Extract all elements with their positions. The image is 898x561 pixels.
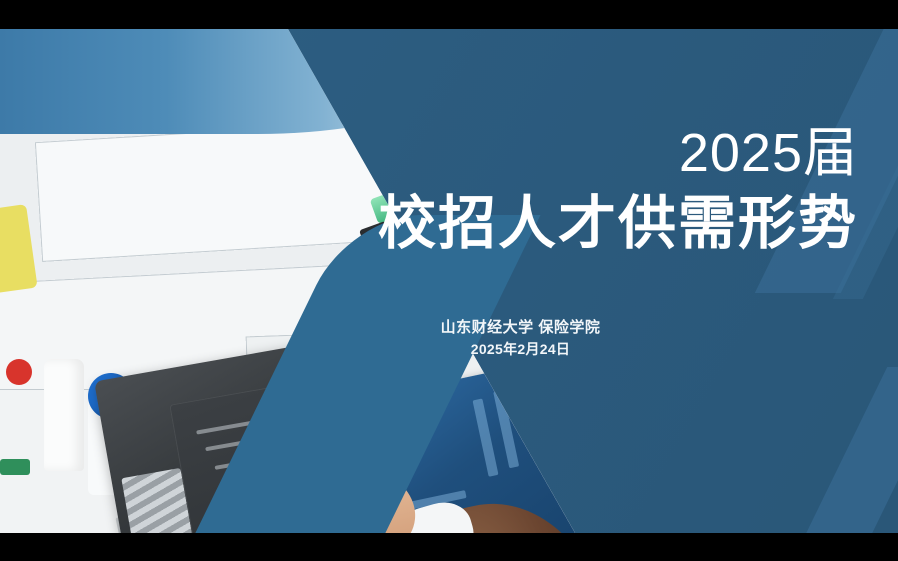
- slide-canvas: 2025届 校招人才供需形势 山东财经大学 保险学院 2025年2月24日: [0, 29, 898, 533]
- slide-root: 2025届 校招人才供需形势 山东财经大学 保险学院 2025年2月24日: [0, 0, 898, 561]
- page-title-line-1: 2025届: [318, 29, 858, 182]
- letterbox-top: [0, 0, 898, 29]
- title-block: 2025届 校招人才供需形势 山东财经大学 保险学院 2025年2月24日: [318, 29, 858, 361]
- yellow-bottle: [0, 204, 38, 294]
- red-cap: [6, 359, 32, 385]
- page-title-line-2: 校招人才供需形势: [318, 182, 858, 256]
- subtitle-date: 2025年2月24日: [318, 339, 723, 361]
- letterbox-bottom: [0, 533, 898, 561]
- subtitle-organization: 山东财经大学 保险学院: [318, 316, 723, 339]
- subtitle-block: 山东财经大学 保险学院 2025年2月24日: [318, 316, 858, 361]
- white-bottle: [44, 359, 84, 471]
- green-component: [0, 459, 30, 475]
- board-slot: [473, 398, 499, 476]
